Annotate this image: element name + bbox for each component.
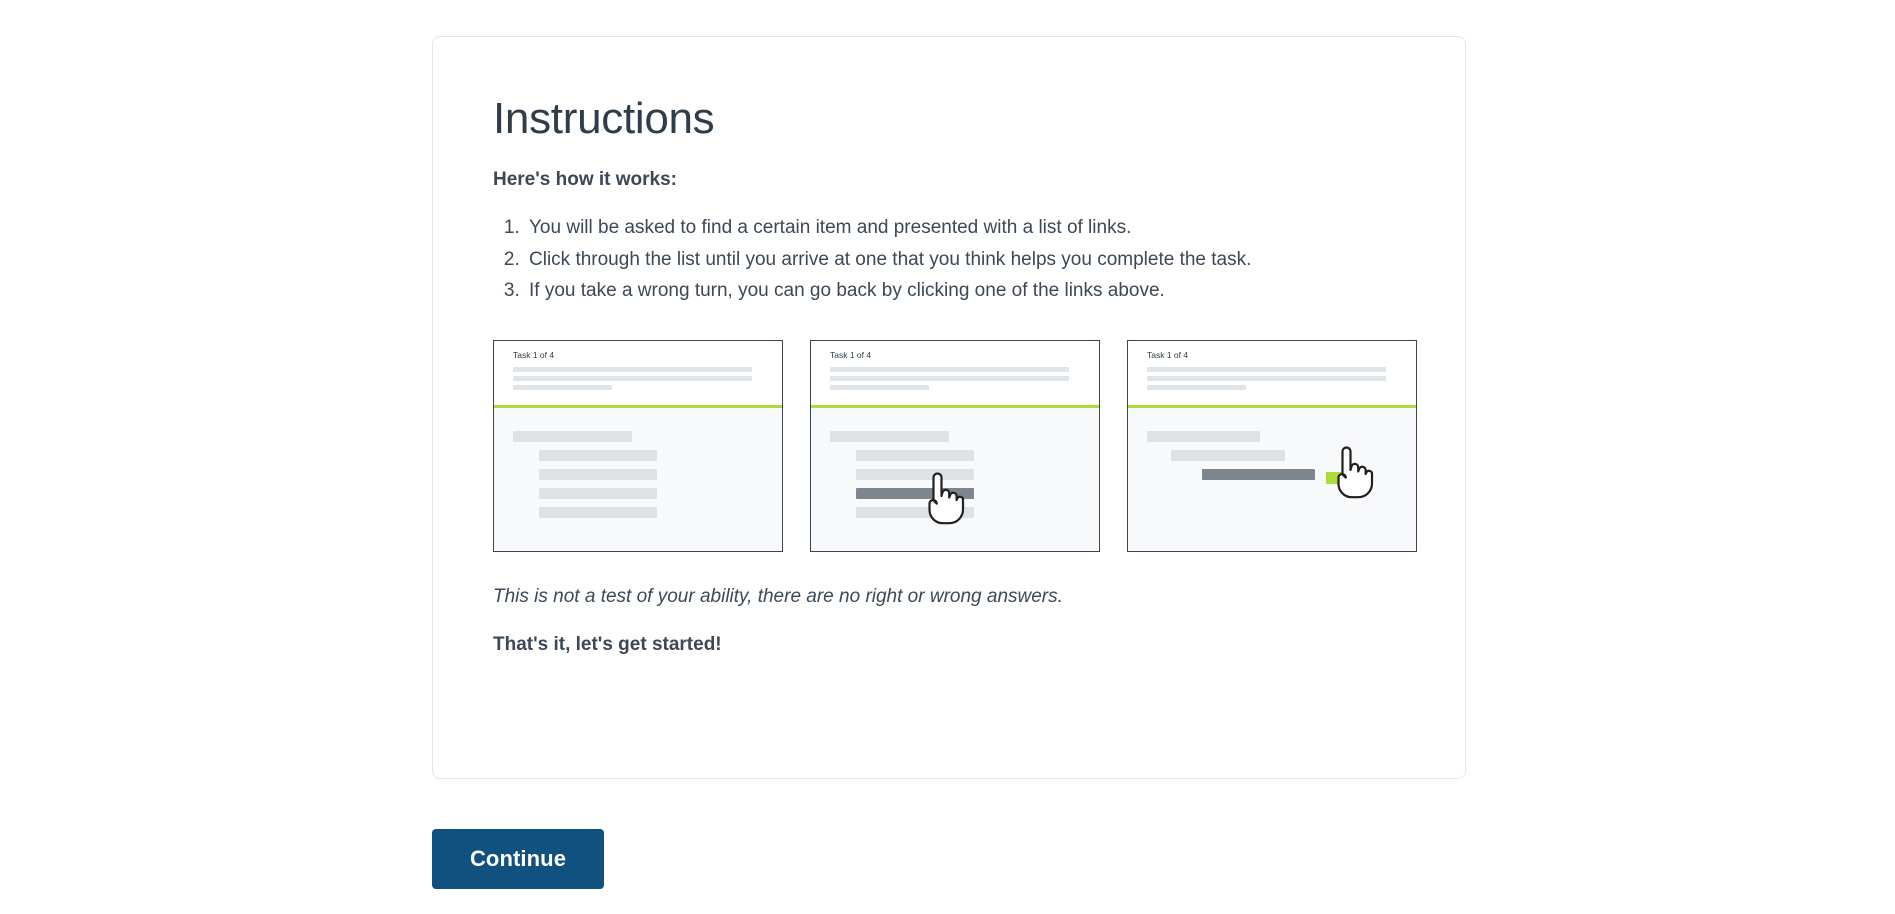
illustration-card-3: Task 1 of 4 bbox=[1127, 340, 1417, 552]
mock-link-placeholder bbox=[856, 450, 974, 461]
mock-body-3 bbox=[1128, 408, 1416, 552]
mock-link-placeholder bbox=[856, 507, 974, 518]
mock-task-label-1: Task 1 of 4 bbox=[513, 351, 770, 360]
illustration-row: Task 1 of 4 bbox=[493, 340, 1465, 552]
mock-heading-placeholder bbox=[830, 431, 949, 442]
mock-header-2: Task 1 of 4 bbox=[811, 341, 1099, 405]
mock-link-placeholder bbox=[539, 507, 657, 518]
mock-body-1 bbox=[494, 408, 782, 552]
mock-link-placeholder bbox=[539, 469, 657, 480]
panel-content: Instructions Here's how it works: You wi… bbox=[433, 37, 1465, 656]
step-item-2: Click through the list until you arrive … bbox=[525, 245, 1425, 274]
mock-text-placeholder bbox=[513, 367, 752, 372]
mock-text-placeholder bbox=[830, 367, 1069, 372]
mock-task-label-2: Task 1 of 4 bbox=[830, 351, 1087, 360]
closing-text: That's it, let's get started! bbox=[493, 634, 1465, 656]
intro-text: Here's how it works: bbox=[493, 169, 1465, 191]
mock-text-placeholder bbox=[513, 376, 752, 381]
mock-text-placeholder bbox=[830, 385, 929, 390]
mock-breadcrumb-placeholder bbox=[1171, 450, 1285, 461]
mock-header-3: Task 1 of 4 bbox=[1128, 341, 1416, 405]
mock-heading-placeholder bbox=[513, 431, 632, 442]
mock-link-placeholder-selected bbox=[856, 488, 974, 499]
mock-text-placeholder bbox=[830, 376, 1069, 381]
instructions-panel: Instructions Here's how it works: You wi… bbox=[432, 36, 1466, 779]
mock-body-2 bbox=[811, 408, 1099, 552]
illustration-card-1: Task 1 of 4 bbox=[493, 340, 783, 552]
mock-header-1: Task 1 of 4 bbox=[494, 341, 782, 405]
mock-final-row bbox=[1128, 469, 1416, 488]
mock-text-placeholder bbox=[513, 385, 612, 390]
mock-task-label-3: Task 1 of 4 bbox=[1147, 351, 1404, 360]
mock-submit-button bbox=[1326, 472, 1364, 484]
mock-link-placeholder bbox=[856, 469, 974, 480]
instructions-page: Instructions Here's how it works: You wi… bbox=[0, 0, 1895, 914]
step-item-1: You will be asked to find a certain item… bbox=[525, 213, 1425, 242]
mock-text-placeholder bbox=[1147, 385, 1246, 390]
mock-breadcrumb-placeholder-selected bbox=[1202, 469, 1315, 480]
mock-breadcrumb-placeholder bbox=[1147, 431, 1260, 442]
illustration-card-2: Task 1 of 4 bbox=[810, 340, 1100, 552]
step-item-3: If you take a wrong turn, you can go bac… bbox=[525, 276, 1425, 305]
page-title: Instructions bbox=[493, 95, 1465, 143]
mock-link-placeholder bbox=[539, 450, 657, 461]
mock-text-placeholder bbox=[1147, 367, 1386, 372]
disclaimer-text: This is not a test of your ability, ther… bbox=[493, 586, 1465, 608]
mock-link-placeholder bbox=[539, 488, 657, 499]
continue-button[interactable]: Continue bbox=[432, 829, 604, 889]
mock-text-placeholder bbox=[1147, 376, 1386, 381]
steps-list: You will be asked to find a certain item… bbox=[493, 213, 1425, 305]
